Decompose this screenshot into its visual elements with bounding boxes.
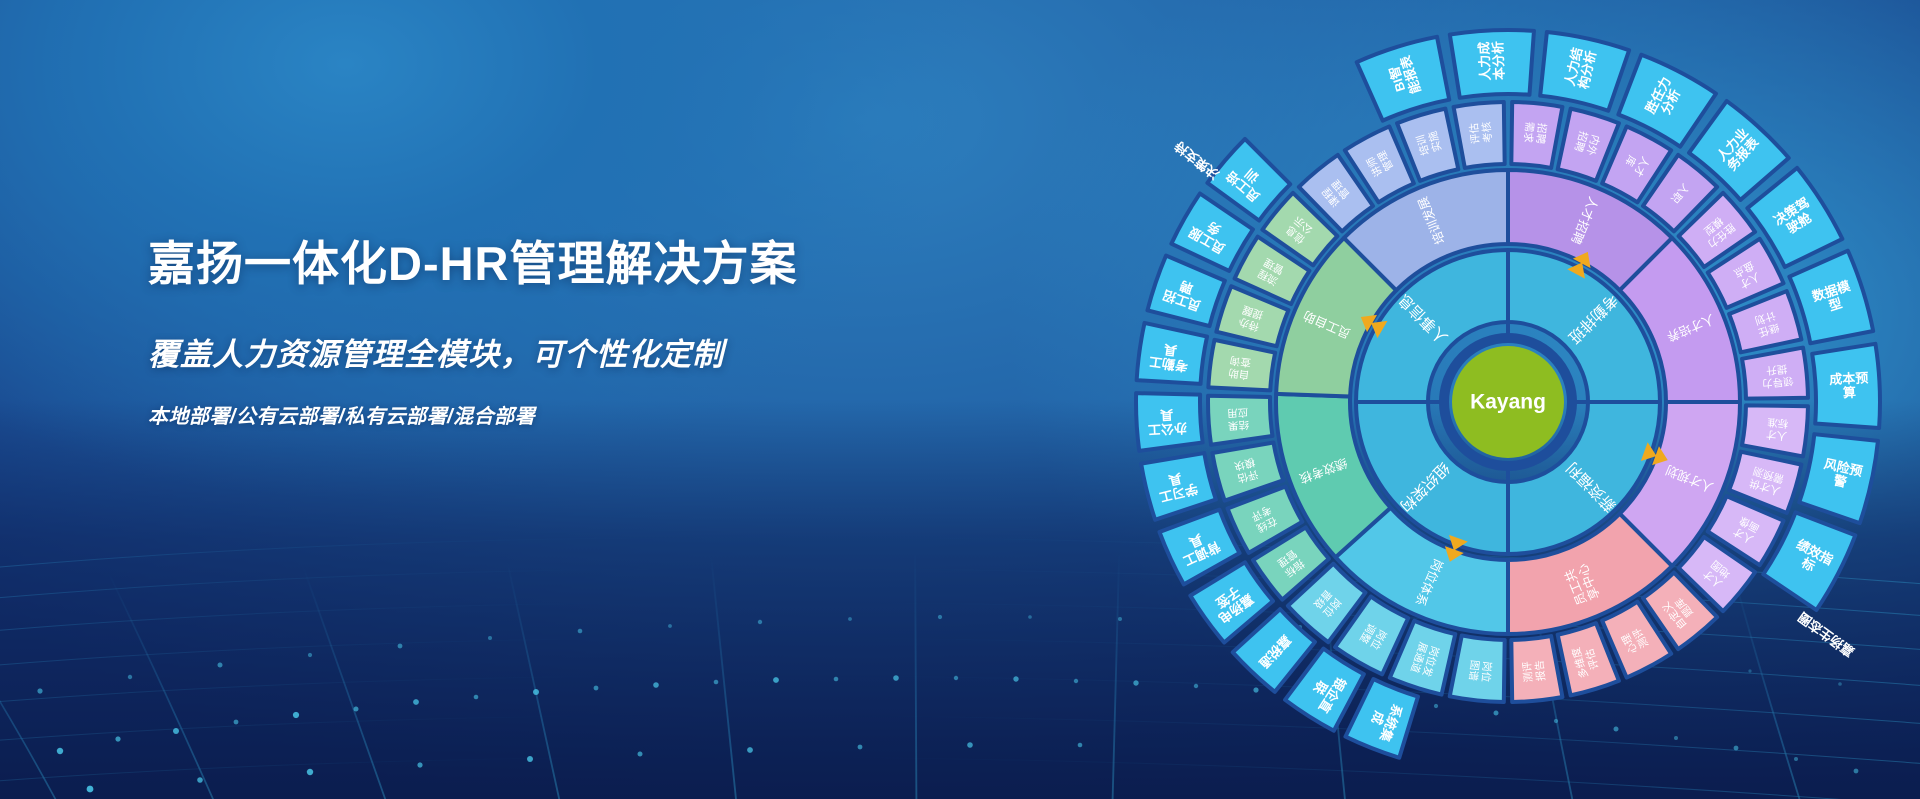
hero-banner: 嘉扬一体化D-HR管理解决方案 覆盖人力资源管理全模块，可个性化定制 本地部署/… bbox=[0, 0, 1920, 799]
segment-label: 人才标准 bbox=[1765, 416, 1788, 443]
segment-label: 岗位图谱 bbox=[1467, 659, 1495, 683]
deployment-note: 本地部署/公有云部署/私有云部署/混合部署 bbox=[148, 400, 908, 429]
dhr-sunburst-diagram: 系统集成银企直联嘉税通嘉扬电子签背调工具学习工具办公工具考勤工具员工招聘员工服务… bbox=[1100, 0, 1920, 799]
center-node-group: Kayang bbox=[1444, 338, 1572, 466]
page-subtitle: 覆盖人力资源管理全模块，可个性化定制 bbox=[148, 329, 908, 374]
center-label: Kayang bbox=[1470, 391, 1546, 414]
segment-label: 评估考核 bbox=[1467, 121, 1494, 145]
segment-label: 测评报告 bbox=[1520, 659, 1547, 683]
sunburst-svg: 系统集成银企直联嘉税通嘉扬电子签背调工具学习工具办公工具考勤工具员工招聘员工服务… bbox=[1100, 0, 1920, 799]
hero-copy: 嘉扬一体化D-HR管理解决方案 覆盖人力资源管理全模块，可个性化定制 本地部署/… bbox=[148, 236, 908, 429]
segment-label: 招聘需求 bbox=[1521, 121, 1548, 145]
segment-label: 人力成本分析 bbox=[1477, 41, 1508, 81]
page-title: 嘉扬一体化D-HR管理解决方案 bbox=[148, 236, 908, 291]
outside-label: 嘉扬生态圈 bbox=[1795, 609, 1857, 660]
segment-label: 自助查询 bbox=[1228, 354, 1252, 382]
outside-label: 决策支持 bbox=[1172, 138, 1222, 182]
segment-label: 结果应用 bbox=[1226, 406, 1249, 433]
